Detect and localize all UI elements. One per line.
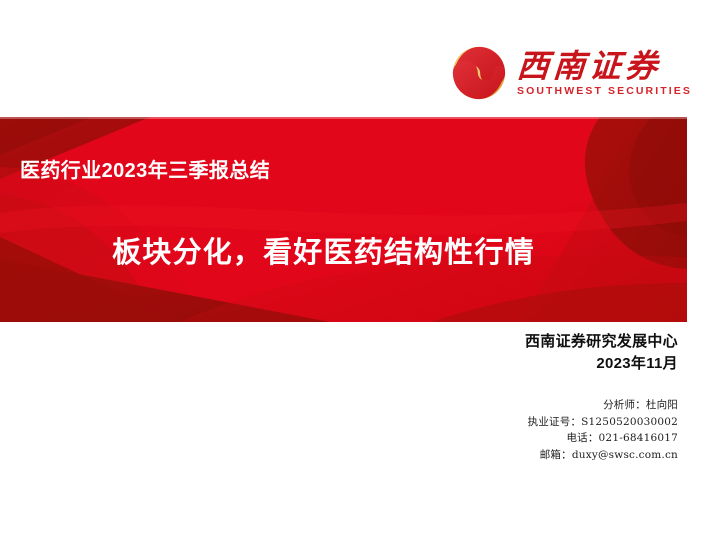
institution-name: 西南证券研究发展中心 bbox=[525, 331, 678, 353]
report-date: 2023年11月 bbox=[525, 353, 678, 375]
analyst-phone: 电话：021-68416017 bbox=[528, 430, 678, 447]
report-subtitle: 医药行业2023年三季报总结 bbox=[20, 158, 270, 184]
cover-slide: 西南证券 SOUTHWEST SECURITIES bbox=[0, 0, 720, 540]
southwest-securities-emblem-icon bbox=[450, 44, 508, 102]
institution-block: 西南证券研究发展中心 2023年11月 bbox=[525, 331, 678, 375]
report-title: 板块分化，看好医药结构性行情 bbox=[0, 234, 687, 272]
logo-english-name: SOUTHWEST SECURITIES bbox=[517, 85, 692, 98]
banner-background-art bbox=[0, 117, 687, 322]
logo-wordmark: 西南证券 SOUTHWEST SECURITIES bbox=[517, 48, 692, 99]
analyst-block: 分析师：杜向阳 执业证号：S1250520030002 电话：021-68416… bbox=[528, 397, 678, 463]
analyst-email: 邮箱：duxy@swsc.com.cn bbox=[528, 447, 678, 464]
logo-chinese-name: 西南证券 bbox=[516, 48, 694, 84]
analyst-name: 分析师：杜向阳 bbox=[528, 397, 678, 414]
title-banner: 医药行业2023年三季报总结 板块分化，看好医药结构性行情 bbox=[0, 117, 687, 322]
company-logo: 西南证券 SOUTHWEST SECURITIES bbox=[450, 44, 692, 102]
analyst-license: 执业证号：S1250520030002 bbox=[528, 414, 678, 431]
